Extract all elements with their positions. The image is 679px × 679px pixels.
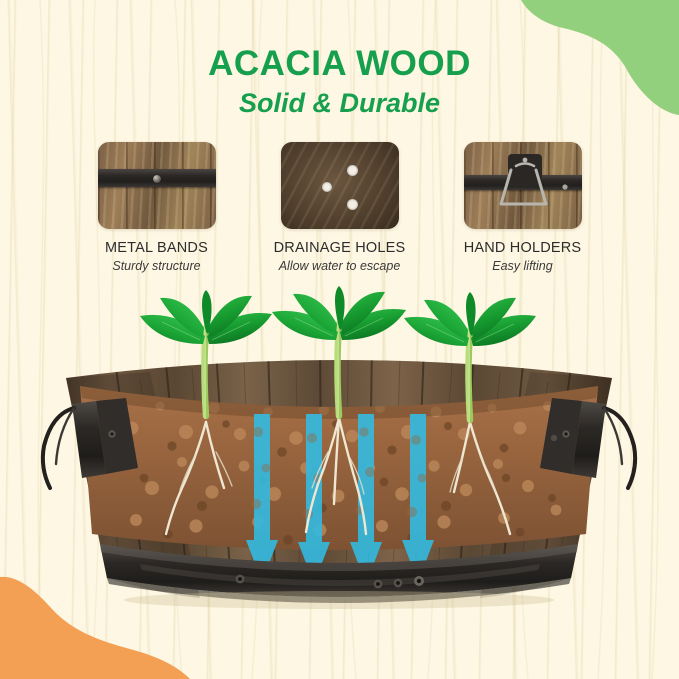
handle-icon (464, 142, 582, 229)
page-subtitle: Solid & Durable (0, 90, 679, 117)
hand-holder-thumbnail (464, 142, 582, 229)
drainage-hole-icon (322, 182, 332, 192)
feature-title: DRAINAGE HOLES (274, 240, 406, 256)
page-title: ACACIA WOOD (0, 46, 679, 81)
heading-block: ACACIA WOOD Solid & Durable (0, 46, 679, 117)
feature-title: HAND HOLDERS (464, 240, 582, 256)
feature-description: Easy lifting (492, 259, 552, 273)
feature-description: Sturdy structure (112, 259, 200, 273)
wood-texture (281, 142, 399, 229)
infographic-canvas: ACACIA WOOD Solid & Durable METAL BANDS … (0, 0, 679, 679)
rivet-icon (153, 175, 161, 183)
feature-list: METAL BANDS Sturdy structure DRAINAGE HO… (0, 142, 679, 273)
feature-metal-bands: METAL BANDS Sturdy structure (95, 142, 218, 273)
planter-shadow (124, 591, 554, 609)
feature-drainage-holes: DRAINAGE HOLES Allow water to escape (278, 142, 401, 273)
planter-product-illustration (0, 282, 679, 642)
drainage-hole-icon (347, 165, 358, 176)
feature-title: METAL BANDS (105, 240, 208, 256)
metal-band-thumbnail (98, 142, 216, 229)
drainage-hole-icon (347, 199, 358, 210)
feature-hand-holders: HAND HOLDERS Easy lifting (461, 142, 584, 273)
feature-description: Allow water to escape (279, 259, 401, 273)
drainage-holes-thumbnail (281, 142, 399, 229)
